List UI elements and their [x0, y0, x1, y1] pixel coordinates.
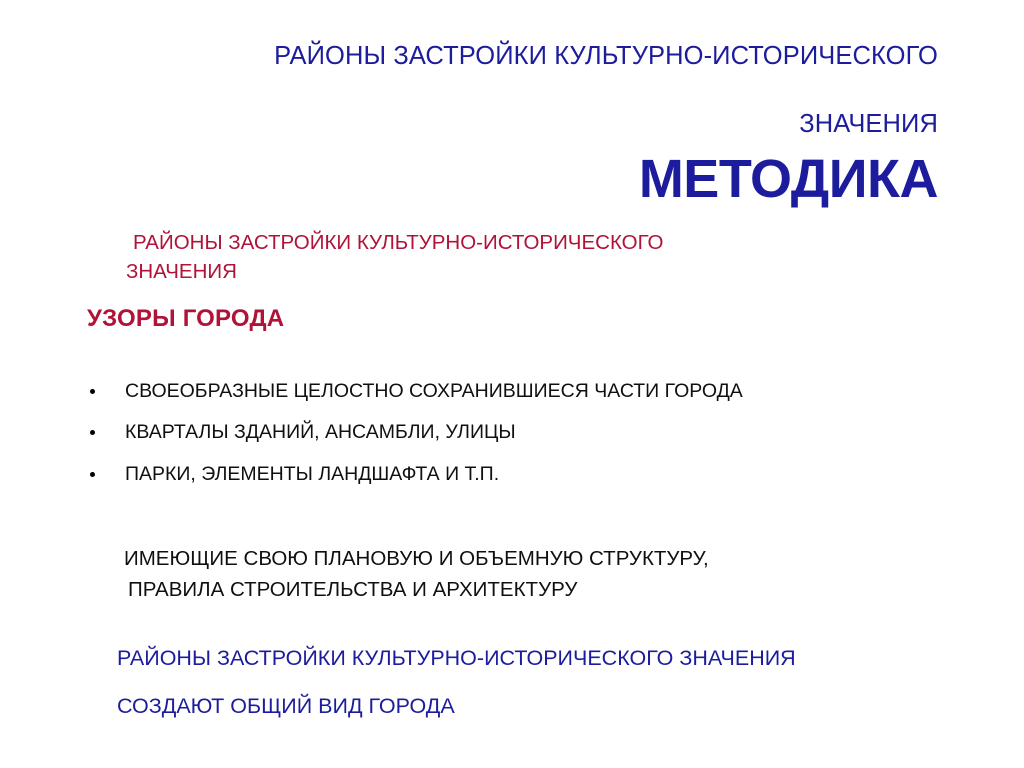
list-item: ПАРКИ, ЭЛЕМЕНТЫ ЛАНДШАФТА И Т.П.	[86, 463, 936, 486]
list-item-label: ПАРКИ, ЭЛЕМЕНТЫ ЛАНДШАФТА И Т.П.	[125, 463, 499, 485]
slide-title-line-2: ЗНАЧЕНИЯ	[118, 112, 938, 138]
bullet-dot-icon	[90, 472, 95, 477]
list-item-label: СВОЕОБРАЗНЫЕ ЦЕЛОСТНО СОХРАНИВШИЕСЯ ЧАСТ…	[125, 380, 743, 402]
presentation-slide: РАЙОНЫ ЗАСТРОЙКИ КУЛЬТУРНО-ИСТОРИЧЕСКОГО…	[0, 0, 1024, 768]
conclusion-block: РАЙОНЫ ЗАСТРОЙКИ КУЛЬТУРНО-ИСТОРИЧЕСКОГО…	[117, 648, 957, 717]
list-item-label: КВАРТАЛЫ ЗДАНИЙ, АНСАМБЛИ, УЛИЦЫ	[125, 421, 516, 443]
section-heading-uzory-goroda: УЗОРЫ ГОРОДА	[87, 305, 284, 333]
descriptive-paragraph-line-1: ИМЕЮЩИЕ СВОЮ ПЛАНОВУЮ И ОБЪЕМНУЮ СТРУКТУ…	[124, 543, 914, 574]
slide-title-line-1: РАЙОНЫ ЗАСТРОЙКИ КУЛЬТУРНО-ИСТОРИЧЕСКОГО	[118, 44, 938, 70]
red-subtitle-line-2: ЗНАЧЕНИЯ	[126, 257, 886, 286]
bullet-dot-icon	[90, 430, 95, 435]
slide-title-block: РАЙОНЫ ЗАСТРОЙКИ КУЛЬТУРНО-ИСТОРИЧЕСКОГО…	[118, 44, 938, 208]
bullet-dot-icon	[90, 389, 95, 394]
conclusion-line-1: РАЙОНЫ ЗАСТРОЙКИ КУЛЬТУРНО-ИСТОРИЧЕСКОГО…	[117, 648, 957, 670]
slide-main-title: МЕТОДИКА	[118, 151, 938, 208]
list-item: КВАРТАЛЫ ЗДАНИЙ, АНСАМБЛИ, УЛИЦЫ	[86, 421, 936, 444]
conclusion-line-2: СОЗДАЮТ ОБЩИЙ ВИД ГОРОДА	[117, 696, 957, 718]
red-subtitle-line-1: РАЙОНЫ ЗАСТРОЙКИ КУЛЬТУРНО-ИСТОРИЧЕСКОГО	[126, 228, 886, 257]
list-item: СВОЕОБРАЗНЫЕ ЦЕЛОСТНО СОХРАНИВШИЕСЯ ЧАСТ…	[86, 380, 936, 403]
red-subtitle-block: РАЙОНЫ ЗАСТРОЙКИ КУЛЬТУРНО-ИСТОРИЧЕСКОГО…	[126, 228, 886, 286]
bullet-list: СВОЕОБРАЗНЫЕ ЦЕЛОСТНО СОХРАНИВШИЕСЯ ЧАСТ…	[86, 380, 936, 504]
descriptive-paragraph: ИМЕЮЩИЕ СВОЮ ПЛАНОВУЮ И ОБЪЕМНУЮ СТРУКТУ…	[124, 543, 914, 605]
descriptive-paragraph-line-2: ПРАВИЛА СТРОИТЕЛЬСТВА И АРХИТЕКТУРУ	[124, 574, 914, 605]
